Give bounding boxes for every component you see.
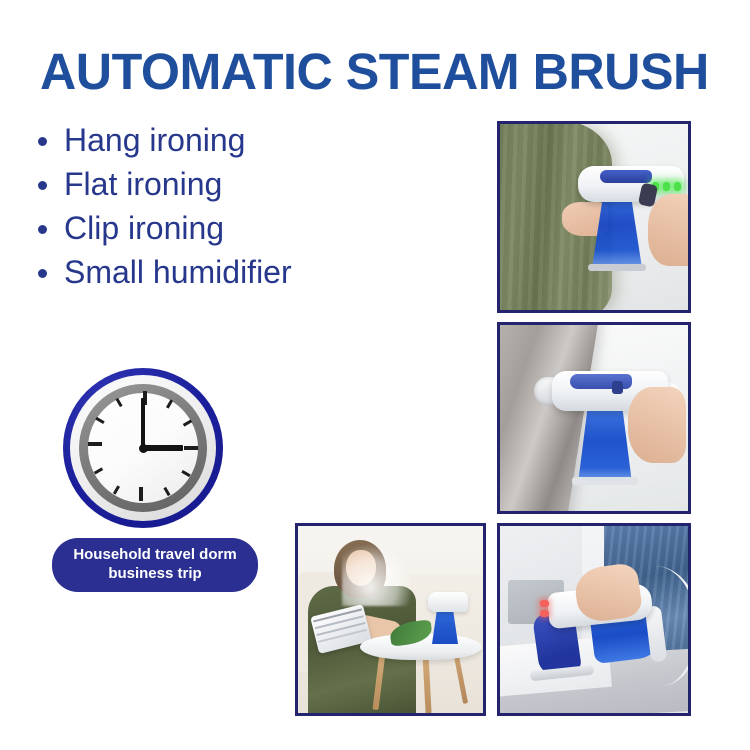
photo-content [298,526,483,713]
steamer-body [428,592,468,612]
bullet-dot-icon [38,181,47,190]
clock-center-pin [139,444,148,453]
indicator-light-icon [540,600,549,607]
feature-list: Hang ironing Flat ironing Clip ironing S… [32,118,452,294]
badge-line-2: business trip [52,564,258,583]
bullet-dot-icon [38,137,47,146]
indicator-light-icon [663,182,670,191]
product-photo-flat-ironing [497,523,691,716]
feature-label: Small humidifier [64,254,292,290]
poster-canvas: AUTOMATIC STEAM BRUSH Hang ironing Flat … [0,0,750,750]
page-title: AUTOMATIC STEAM BRUSH [40,44,720,100]
badge-line-1: Household travel dorm [52,545,258,564]
clock-minute-hand [141,398,145,448]
steamer-tank-base [572,477,638,485]
feature-label: Hang ironing [64,122,245,158]
steamer-accent [600,170,652,183]
clock-hour-hand [143,445,183,451]
product-photo-hang-ironing [497,121,691,313]
steam-mist [342,544,412,606]
wall-clock-icon [63,368,223,528]
indicator-light-icon [674,182,681,191]
list-item: Flat ironing [32,162,452,206]
status-badge: Household travel dorm business trip [52,538,258,592]
feature-label: Flat ironing [64,166,222,202]
bullet-dot-icon [38,269,47,278]
list-item: Small humidifier [32,250,452,294]
hand [648,194,688,266]
list-item: Clip ironing [32,206,452,250]
photo-content [500,325,688,511]
steamer-button [612,381,623,394]
bullet-dot-icon [38,225,47,234]
photo-content [500,124,688,310]
photo-content [500,526,688,713]
product-photo-clip-ironing [497,322,691,514]
clock-face [88,393,198,503]
product-photo-humidifier [295,523,486,716]
usage-scenario-block: Household travel dorm business trip [52,368,258,584]
list-item: Hang ironing [32,118,452,162]
feature-label: Clip ironing [64,210,224,246]
steamer-tank-base [588,264,646,271]
hand [628,387,686,463]
indicator-light-icon [540,610,549,617]
